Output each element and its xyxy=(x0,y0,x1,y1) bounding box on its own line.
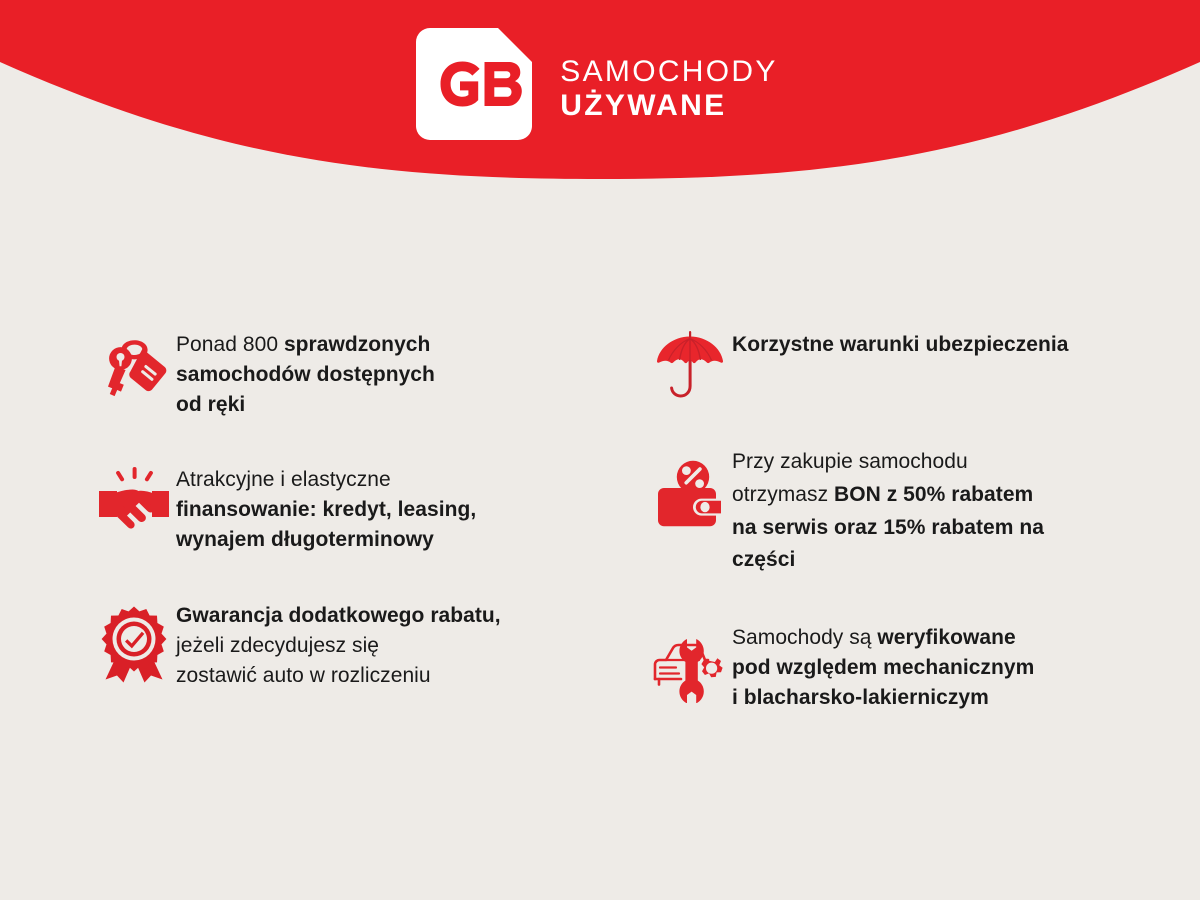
feature-grid: Ponad 800 sprawdzonychsamochodów dostępn… xyxy=(0,330,1200,712)
feature-text-voucher: Przy zakupie samochoduotrzymasz BON z 50… xyxy=(732,446,1200,577)
car-wrench-gear-icon xyxy=(648,631,732,703)
brand-logo: SAMOCHODY UŻYWANE xyxy=(0,0,1200,200)
feature-line: pod względem mechanicznym xyxy=(732,656,1034,679)
feature-line: Korzystne warunki ubezpieczenia xyxy=(732,333,1068,356)
feature-item-financing: Atrakcyjne i elastycznefinansowanie: kre… xyxy=(92,465,600,554)
wallet-percent-icon xyxy=(648,460,732,532)
feature-line: otrzymasz BON z 50% rabatem xyxy=(732,483,1033,506)
umbrella-icon xyxy=(648,330,732,400)
feature-line: na serwis oraz 15% rabatem na xyxy=(732,516,1044,539)
feature-line: Gwarancja dodatkowego rabatu, xyxy=(176,604,501,627)
feature-line: finansowanie: kredyt, leasing, xyxy=(176,498,476,521)
feature-item-inspection: Samochody są weryfikowanepod względem me… xyxy=(648,623,1200,712)
feature-column-left: Ponad 800 sprawdzonychsamochodów dostępn… xyxy=(0,330,600,712)
feature-text-financing: Atrakcyjne i elastycznefinansowanie: kre… xyxy=(176,465,600,554)
feature-line: części xyxy=(732,548,795,571)
feature-line: Ponad 800 sprawdzonych xyxy=(176,333,430,356)
logo-line-uzywane: UŻYWANE xyxy=(560,90,777,121)
feature-text-keys: Ponad 800 sprawdzonychsamochodów dostępn… xyxy=(176,330,600,419)
rosette-check-icon xyxy=(92,605,176,683)
feature-item-insurance: Korzystne warunki ubezpieczenia xyxy=(648,330,1200,400)
feature-line: od ręki xyxy=(176,393,245,416)
keys-icon xyxy=(92,336,176,400)
feature-line: Przy zakupie samochodu xyxy=(732,450,968,473)
feature-item-trade-in: Gwarancja dodatkowego rabatu,jeżeli zdec… xyxy=(92,601,600,690)
feature-column-right: Korzystne warunki ubezpieczenia xyxy=(600,330,1200,712)
feature-item-keys: Ponad 800 sprawdzonychsamochodów dostępn… xyxy=(92,330,600,419)
feature-line: Samochody są weryfikowane xyxy=(732,626,1016,649)
feature-text-trade-in: Gwarancja dodatkowego rabatu,jeżeli zdec… xyxy=(176,601,600,690)
feature-line: i blacharsko-lakierniczym xyxy=(732,686,989,709)
feature-text-inspection: Samochody są weryfikowanepod względem me… xyxy=(732,623,1200,712)
handshake-icon xyxy=(92,467,176,531)
logo-card xyxy=(416,28,532,140)
feature-line: Atrakcyjne i elastyczne xyxy=(176,468,391,491)
logo-line-samochody: SAMOCHODY xyxy=(560,56,777,87)
logo-wordmark: SAMOCHODY UŻYWANE xyxy=(560,56,777,121)
poster-canvas: SAMOCHODY UŻYWANE xyxy=(0,0,1200,900)
feature-text-insurance: Korzystne warunki ubezpieczenia xyxy=(732,330,1200,360)
logo-card-shape xyxy=(416,28,532,140)
feature-item-voucher: Przy zakupie samochoduotrzymasz BON z 50… xyxy=(648,446,1200,577)
feature-line: jeżeli zdecydujesz się xyxy=(176,634,379,657)
feature-line: zostawić auto w rozliczeniu xyxy=(176,664,431,687)
feature-line: wynajem długoterminowy xyxy=(176,528,434,551)
feature-line: samochodów dostępnych xyxy=(176,363,435,386)
